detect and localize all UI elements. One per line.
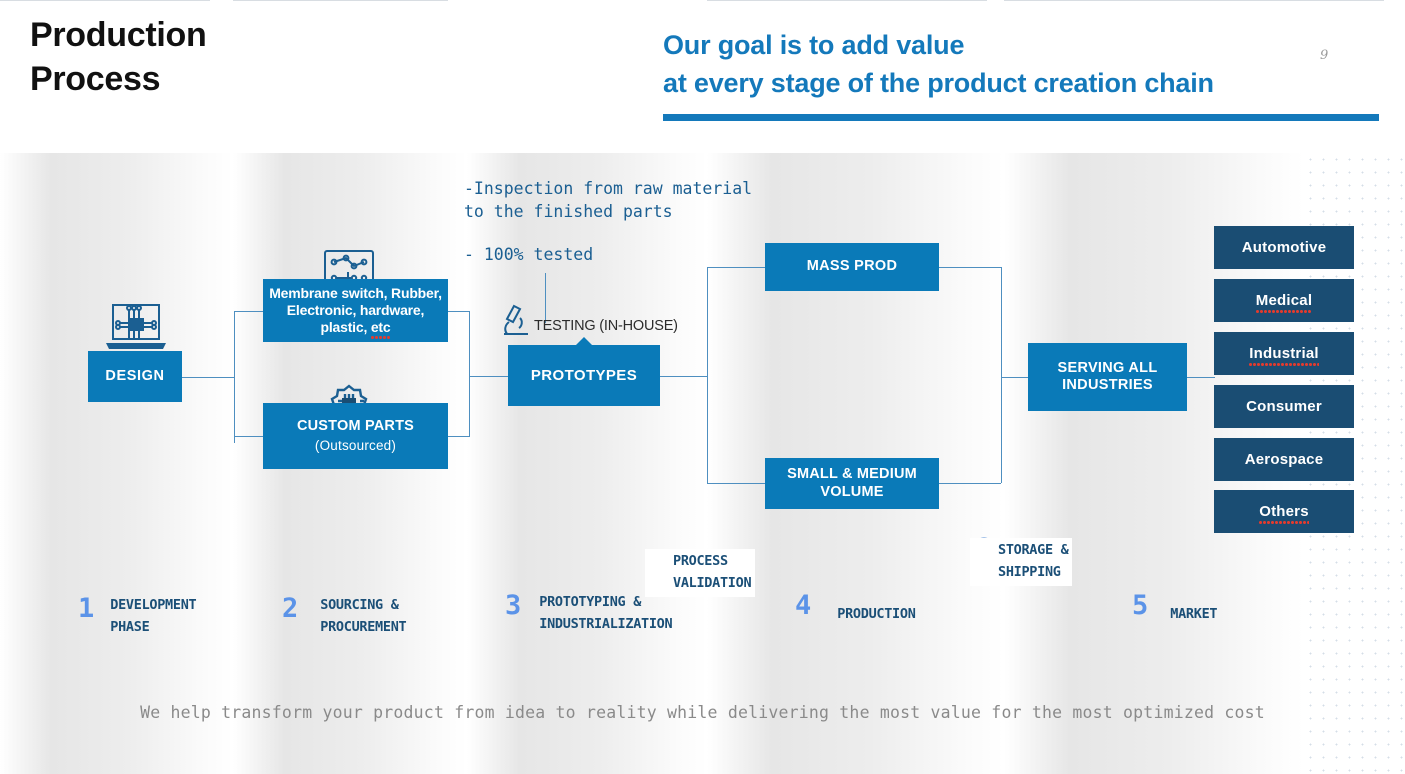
band-divider-2	[233, 0, 448, 1]
microscope-icon	[500, 303, 532, 337]
stage-caption-4: 4 PRODUCTION	[795, 592, 916, 626]
stage-caption-3: 3 PROTOTYPING & INDUSTRIALIZATION	[505, 592, 672, 635]
band-stage-1	[0, 153, 233, 774]
box-small-medium-volume[interactable]: SMALL & MEDIUM VOLUME	[765, 458, 939, 509]
connector-to-smallmed	[707, 483, 765, 484]
note-line-1: -Inspection from raw material	[464, 178, 794, 201]
headline-line-2: at every stage of the product creation c…	[663, 64, 1393, 102]
connector-to-custom	[234, 436, 264, 437]
stage-number: 2	[282, 595, 298, 622]
stage-number: 3	[505, 592, 521, 619]
connector-smallmed-right	[939, 483, 1001, 484]
membrane-flagged-word: etc	[371, 319, 391, 336]
stage-caption-1: 1 DEVELOPMENT PHASE	[78, 595, 196, 638]
band-divider-4	[1004, 0, 1384, 1]
industry-label: Automotive	[1242, 239, 1327, 257]
industry-label: Consumer	[1246, 398, 1322, 416]
connector-to-massprod	[707, 267, 765, 268]
box-serving-all-industries[interactable]: SERVING ALL INDUSTRIES	[1028, 343, 1187, 411]
box-prototypes[interactable]: PROTOTYPES	[508, 345, 660, 406]
connector-stage4-left-bracket	[707, 267, 708, 483]
page-number: 9	[1320, 48, 1328, 63]
industry-item-aerospace[interactable]: Aerospace	[1214, 438, 1354, 481]
industry-item-automotive[interactable]: Automotive	[1214, 226, 1354, 269]
stage-label: MARKET	[1170, 604, 1217, 626]
connector-testing-stem	[545, 273, 546, 323]
box-membrane-materials[interactable]: Membrane switch, Rubber, Electronic, har…	[263, 279, 448, 342]
storage-shipping-label: STORAGE & SHIPPING	[998, 540, 1068, 584]
caption-process-validation: PROCESS VALIDATION	[645, 549, 755, 597]
headline: Our goal is to add value at every stage …	[663, 26, 1393, 103]
slide-root: Production Process Our goal is to add va…	[0, 0, 1405, 774]
note-line-2: to the finished parts	[464, 201, 794, 224]
stage-label: PROTOTYPING & INDUSTRIALIZATION	[539, 592, 672, 635]
connector-prototypes-right	[660, 376, 707, 377]
testing-in-house-label: TESTING (IN-HOUSE)	[534, 318, 678, 334]
stage-number: 4	[795, 592, 811, 619]
industry-label: Industrial	[1249, 345, 1319, 363]
box-design[interactable]: DESIGN	[88, 351, 182, 402]
connector-custom-right	[448, 436, 470, 437]
industry-item-medical[interactable]: Medical	[1214, 279, 1354, 322]
headline-underline-bar	[663, 114, 1379, 121]
band-divider-3	[707, 0, 987, 1]
custom-parts-sublabel: (Outsourced)	[315, 438, 396, 454]
page-title: Production Process	[30, 14, 360, 101]
connector-into-prototypes	[469, 376, 509, 377]
process-validation-label: PROCESS VALIDATION	[673, 551, 751, 595]
circuit-laptop-icon	[103, 297, 169, 353]
headline-line-1: Our goal is to add value	[663, 26, 1393, 64]
industry-label: Aerospace	[1245, 451, 1324, 469]
industry-item-industrial[interactable]: Industrial	[1214, 332, 1354, 375]
industry-item-others[interactable]: Others	[1214, 490, 1354, 533]
caption-storage-shipping: STORAGE & SHIPPING	[970, 538, 1072, 586]
stage-number: 5	[1132, 592, 1148, 619]
industry-item-consumer[interactable]: Consumer	[1214, 385, 1354, 428]
industry-label: Medical	[1256, 292, 1312, 310]
stage-caption-5: 5 MARKET	[1132, 592, 1217, 626]
connector-serving-right	[1187, 377, 1215, 378]
connector-stage2-bracket	[234, 311, 235, 443]
inspection-notes: -Inspection from raw material to the fin…	[464, 178, 794, 266]
box-custom-parts[interactable]: CUSTOM PARTS (Outsourced)	[263, 403, 448, 469]
custom-parts-label: CUSTOM PARTS	[297, 418, 414, 435]
stage-caption-2: 2 SOURCING & PROCUREMENT	[282, 595, 406, 638]
connector-stage4-right-bracket	[1001, 267, 1002, 483]
connector-massprod-right	[939, 267, 1001, 268]
connector-to-membrane	[234, 311, 264, 312]
connector-stage3-bracket	[469, 311, 470, 437]
connector-into-serving	[1001, 377, 1029, 378]
connector-membrane-right	[448, 311, 470, 312]
stage-label: DEVELOPMENT PHASE	[110, 595, 196, 638]
membrane-text: Membrane switch, Rubber, Electronic, har…	[269, 285, 442, 335]
footer-tagline: We help transform your product from idea…	[0, 703, 1405, 722]
stage-label: PRODUCTION	[837, 604, 915, 626]
stage-label: SOURCING & PROCUREMENT	[320, 595, 406, 638]
band-divider-1	[0, 0, 210, 1]
stage-number: 1	[78, 595, 94, 622]
note-line-3: - 100% tested	[464, 244, 794, 267]
connector-design-right	[182, 377, 234, 378]
industry-label: Others	[1259, 503, 1309, 521]
